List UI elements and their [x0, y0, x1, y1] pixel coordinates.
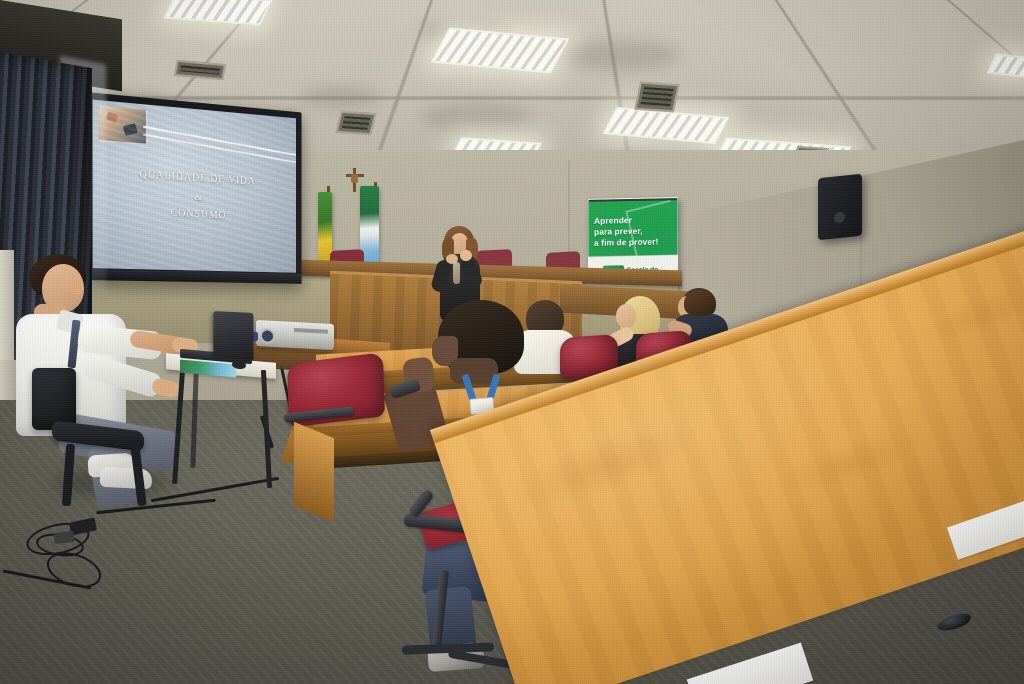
- video-projector: [256, 320, 334, 350]
- slide-title-line-1: QUALIDADE DE VIDA: [93, 165, 296, 189]
- banner-line-2: para prever,: [594, 226, 643, 237]
- ceiling-air-vent: [634, 82, 679, 113]
- attendee-head: [616, 304, 636, 328]
- ceiling-stain: [560, 40, 680, 70]
- ceiling-stain: [420, 104, 530, 130]
- attendee-hair: [684, 290, 714, 316]
- banner-line-1: Aprender: [594, 215, 632, 226]
- slide-title-line-3: CONSUMO: [93, 203, 296, 224]
- floor-power-cables: [18, 520, 138, 590]
- laptop-screen: [213, 311, 253, 360]
- ceiling-air-vent: [336, 111, 377, 136]
- projector-lens-icon: [260, 328, 275, 344]
- projector-vent: [294, 328, 328, 334]
- operator-chair[interactable]: [30, 368, 150, 508]
- ceiling-stain: [300, 86, 380, 108]
- classroom-photo-scene: Aprender para prever, a fim de prover! E…: [0, 0, 1024, 684]
- operator-hand-rest: [150, 377, 181, 399]
- operator-nose: [72, 280, 83, 295]
- banner-line-3: a fim de prover!: [594, 236, 658, 247]
- projection-screen-surface: QUALIDADE DE VIDA & CONSUMO: [93, 100, 296, 273]
- desk-left-end-panel: [294, 422, 334, 522]
- wall-speaker-icon: [818, 174, 862, 241]
- presenter-hand-right: [460, 250, 472, 261]
- presenter-necklace: [453, 262, 460, 284]
- slide-title-line-2: &: [93, 185, 296, 208]
